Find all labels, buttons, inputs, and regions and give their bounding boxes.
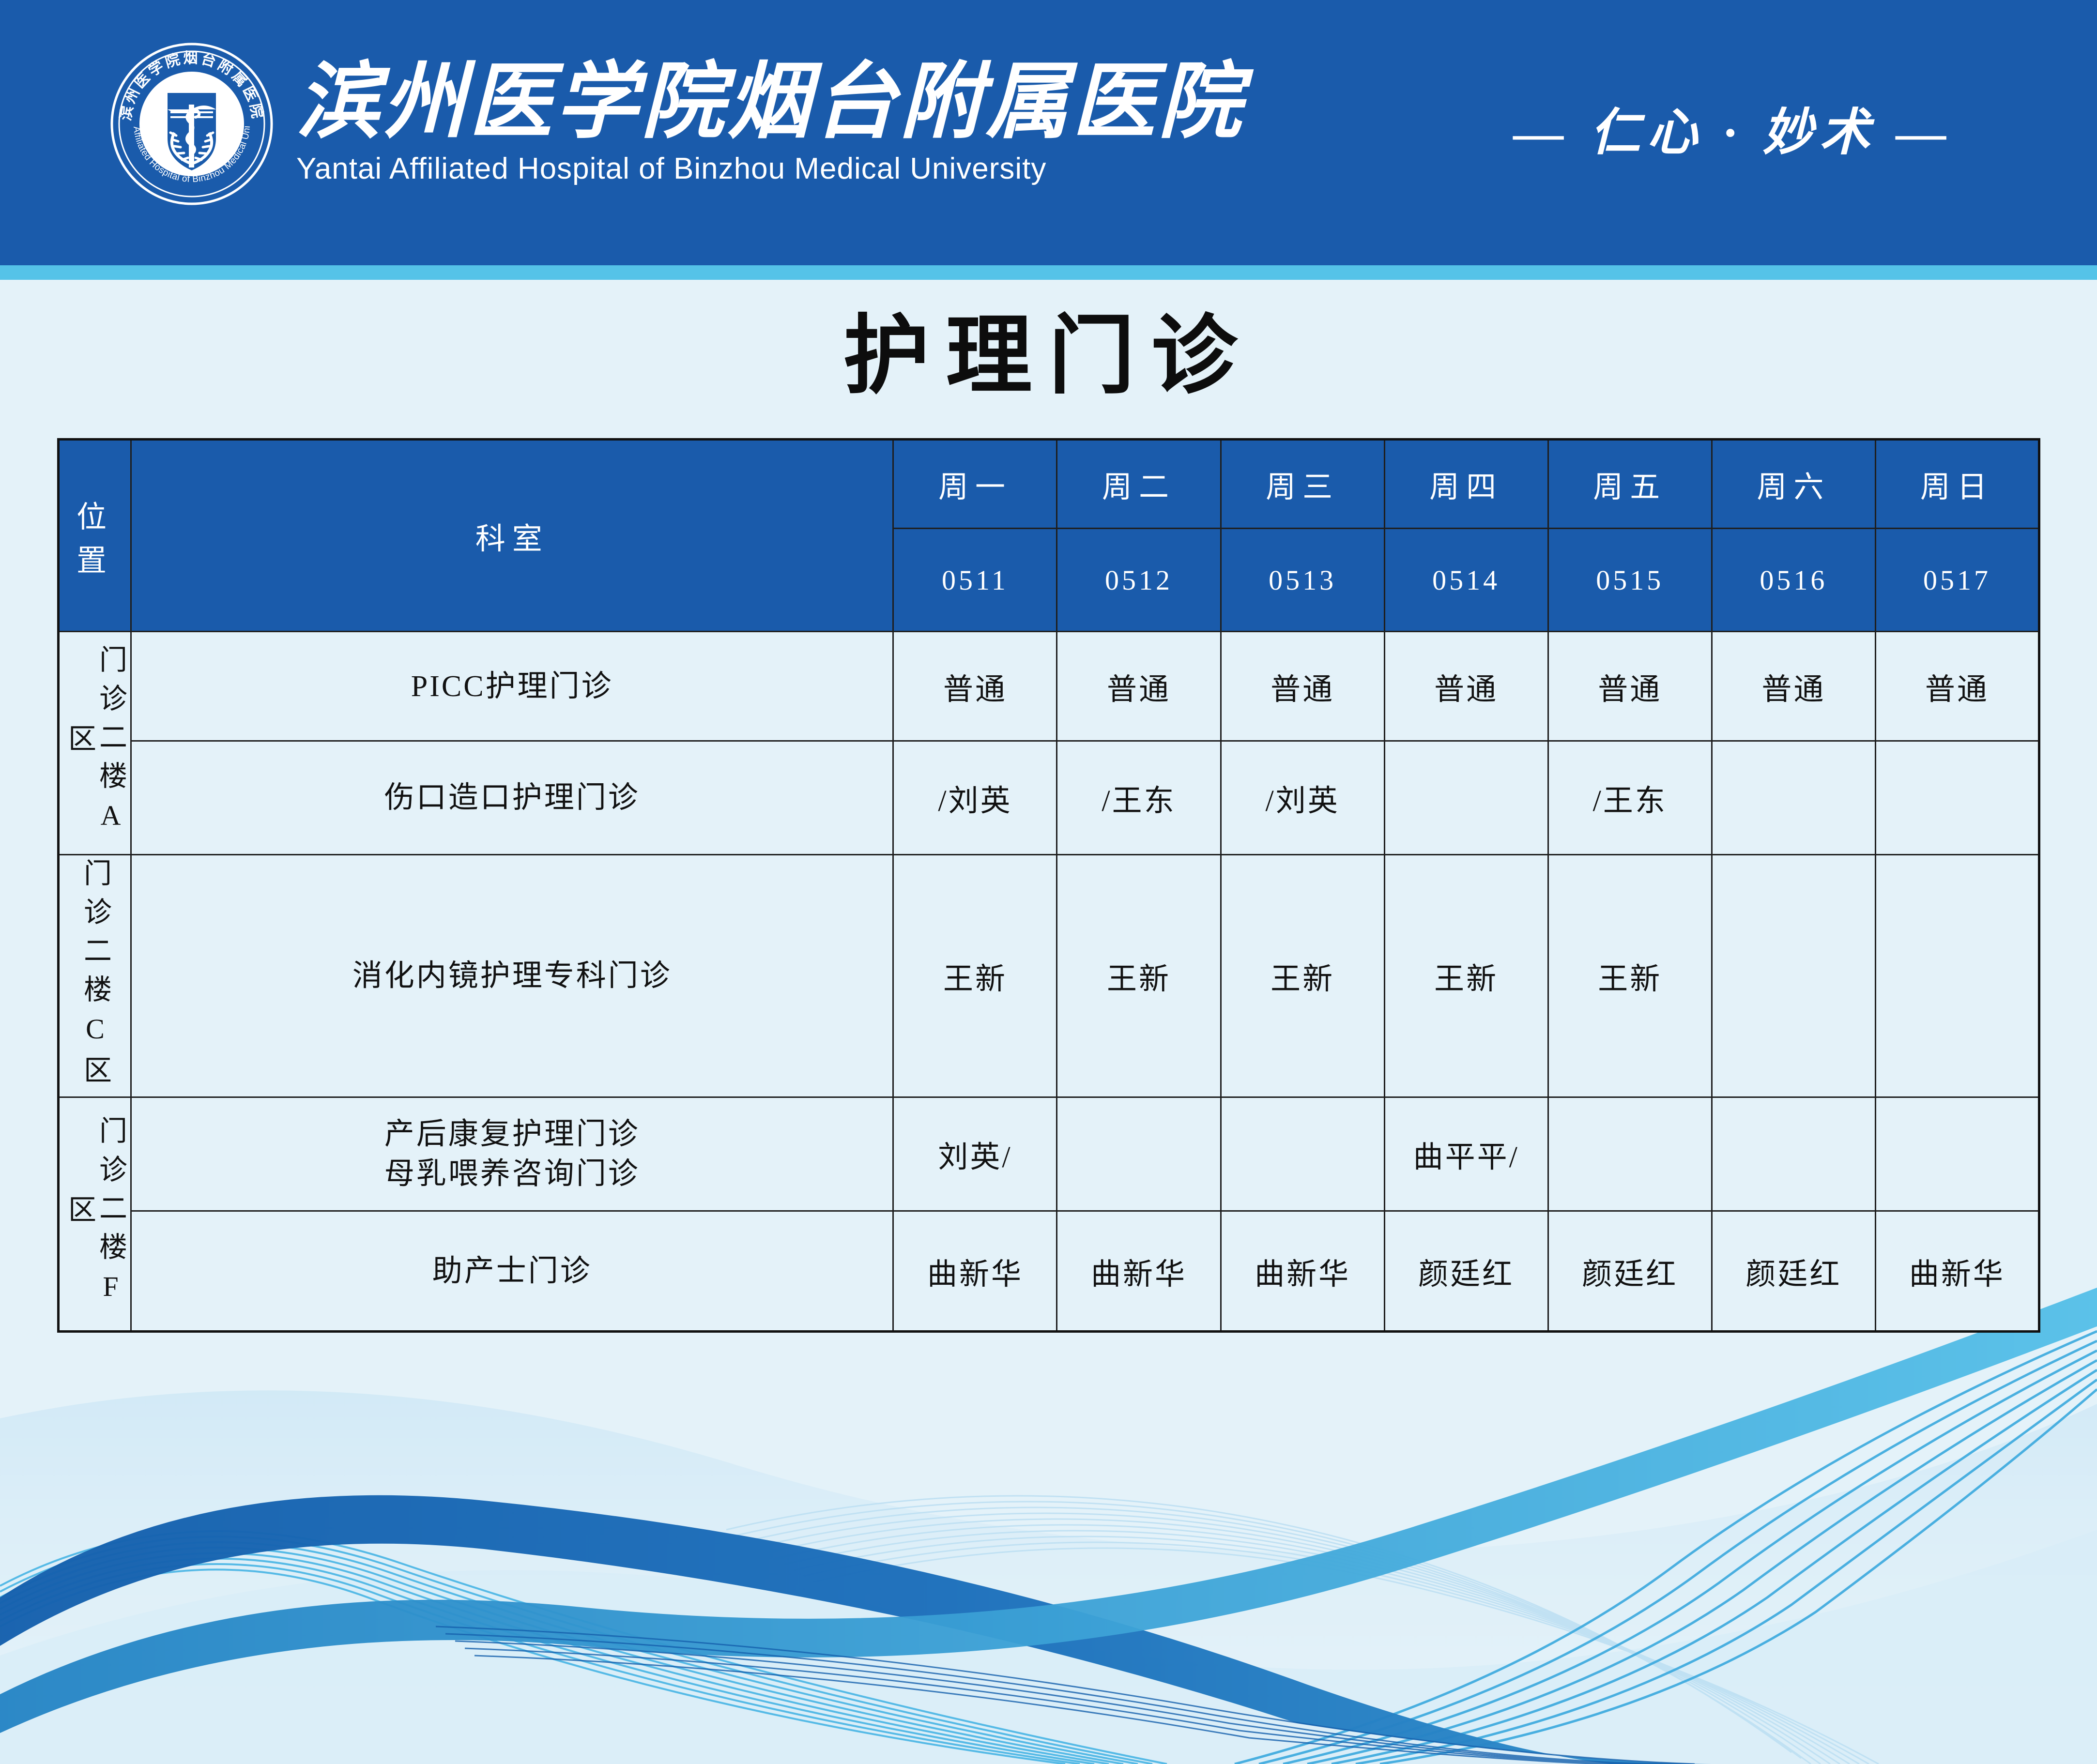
schedule-cell: /王东 (1548, 741, 1712, 855)
table-row: 伤口造口护理门诊 /刘英 /王东 /刘英 /王东 (59, 741, 2039, 855)
schedule-cell: /刘英 (893, 741, 1057, 855)
header-date-mon: 0511 (893, 529, 1057, 632)
schedule-cell: 普通 (1548, 632, 1712, 741)
table-row: 助产士门诊 曲新华 曲新华 曲新华 颜廷红 颜廷红 颜廷红 曲新华 (59, 1211, 2039, 1332)
location-label: 门诊二楼C区 (79, 855, 110, 1096)
schedule-cell: 曲新华 (893, 1211, 1057, 1332)
header-date-sun: 0517 (1875, 529, 2039, 632)
location-label: 门诊二楼A区 (64, 632, 126, 854)
header-date-fri: 0515 (1548, 529, 1712, 632)
schedule-cell (1875, 855, 2039, 1097)
table-header-row-days: 位置 科室 周一 周二 周三 周四 周五 周六 周日 (59, 440, 2039, 529)
table-row: 门诊二楼F区 产后康复护理门诊 母乳喂养咨询门诊 刘英/ 曲平平/ (59, 1097, 2039, 1211)
header-date-thu: 0514 (1384, 529, 1548, 632)
schedule-cell: 颜廷红 (1712, 1211, 1875, 1332)
nursing-clinic-schedule-table: 位置 科室 周一 周二 周三 周四 周五 周六 周日 0511 0512 051… (57, 438, 2040, 1333)
schedule-cell (1875, 1097, 2039, 1211)
department-cell: PICC护理门诊 (131, 632, 893, 741)
schedule-cell: 颜廷红 (1548, 1211, 1712, 1332)
page-header: 滨州医学院烟台附属医院 Yantai Affiliated Hospital o… (0, 0, 2097, 265)
header-date-wed: 0513 (1221, 529, 1384, 632)
accent-band (0, 265, 2097, 280)
hospital-seal-logo: 滨州医学院烟台附属医院 Yantai Affiliated Hospital o… (110, 43, 273, 205)
page-title: 护理门诊 (0, 308, 2097, 405)
schedule-cell: /王东 (1057, 741, 1221, 855)
brand-name-chinese: 滨州医学院烟台附属医院 (296, 57, 1081, 148)
department-cell: 伤口造口护理门诊 (131, 741, 893, 855)
header-location: 位置 (59, 440, 131, 632)
schedule-cell: 王新 (1221, 855, 1384, 1097)
schedule-cell: 普通 (1712, 632, 1875, 741)
location-cell-f-zone: 门诊二楼F区 (59, 1097, 131, 1332)
header-department: 科室 (131, 440, 893, 632)
schedule-cell (1057, 1097, 1221, 1211)
table-row: 门诊二楼C区 消化内镜护理专科门诊 王新 王新 王新 王新 王新 (59, 855, 2039, 1097)
header-day-tue: 周二 (1057, 440, 1221, 529)
header-day-mon: 周一 (893, 440, 1057, 529)
schedule-cell (1548, 1097, 1712, 1211)
header-date-sat: 0516 (1712, 529, 1875, 632)
schedule-cell: 王新 (1057, 855, 1221, 1097)
schedule-cell: 曲新华 (1875, 1211, 2039, 1332)
header-day-sat: 周六 (1712, 440, 1875, 529)
location-cell-a-zone: 门诊二楼A区 (59, 632, 131, 855)
decorative-wave-graphic (0, 1259, 2097, 1764)
department-line-2: 母乳喂养咨询门诊 (132, 1154, 892, 1194)
schedule-cell (1221, 1097, 1384, 1211)
schedule-cell: 刘英/ (893, 1097, 1057, 1211)
schedule-cell: 普通 (893, 632, 1057, 741)
header-date-tue: 0512 (1057, 529, 1221, 632)
header-day-sun: 周日 (1875, 440, 2039, 529)
schedule-cell: 曲新华 (1057, 1211, 1221, 1332)
department-cell: 产后康复护理门诊 母乳喂养咨询门诊 (131, 1097, 893, 1211)
header-day-wed: 周三 (1221, 440, 1384, 529)
schedule-cell (1712, 1097, 1875, 1211)
schedule-cell: 普通 (1057, 632, 1221, 741)
schedule-cell (1875, 741, 2039, 855)
schedule-cell: 王新 (1384, 855, 1548, 1097)
schedule-cell: 王新 (893, 855, 1057, 1097)
schedule-cell: 王新 (1548, 855, 1712, 1097)
schedule-cell: 曲平平/ (1384, 1097, 1548, 1211)
schedule-cell: 普通 (1384, 632, 1548, 741)
header-day-fri: 周五 (1548, 440, 1712, 529)
schedule-cell: 普通 (1221, 632, 1384, 741)
schedule-cell (1712, 855, 1875, 1097)
header-day-thu: 周四 (1384, 440, 1548, 529)
location-label: 门诊二楼F区 (64, 1098, 126, 1330)
schedule-cell: 颜廷红 (1384, 1211, 1548, 1332)
brand-block: 滨州医学院烟台附属医院 Yantai Affiliated Hospital o… (296, 57, 1081, 202)
table-row: 门诊二楼A区 PICC护理门诊 普通 普通 普通 普通 普通 普通 普通 (59, 632, 2039, 741)
department-cell: 消化内镜护理专科门诊 (131, 855, 893, 1097)
schedule-cell: 曲新华 (1221, 1211, 1384, 1332)
schedule-cell (1384, 741, 1548, 855)
schedule-cell (1712, 741, 1875, 855)
brand-name-english: Yantai Affiliated Hospital of Binzhou Me… (296, 151, 1081, 187)
location-cell-c-zone: 门诊二楼C区 (59, 855, 131, 1097)
department-cell: 助产士门诊 (131, 1211, 893, 1332)
hospital-tagline: — 仁心 · 妙术 — (1511, 97, 1956, 169)
schedule-cell: /刘英 (1221, 741, 1384, 855)
department-line-1: 产后康复护理门诊 (132, 1114, 892, 1154)
schedule-cell: 普通 (1875, 632, 2039, 741)
